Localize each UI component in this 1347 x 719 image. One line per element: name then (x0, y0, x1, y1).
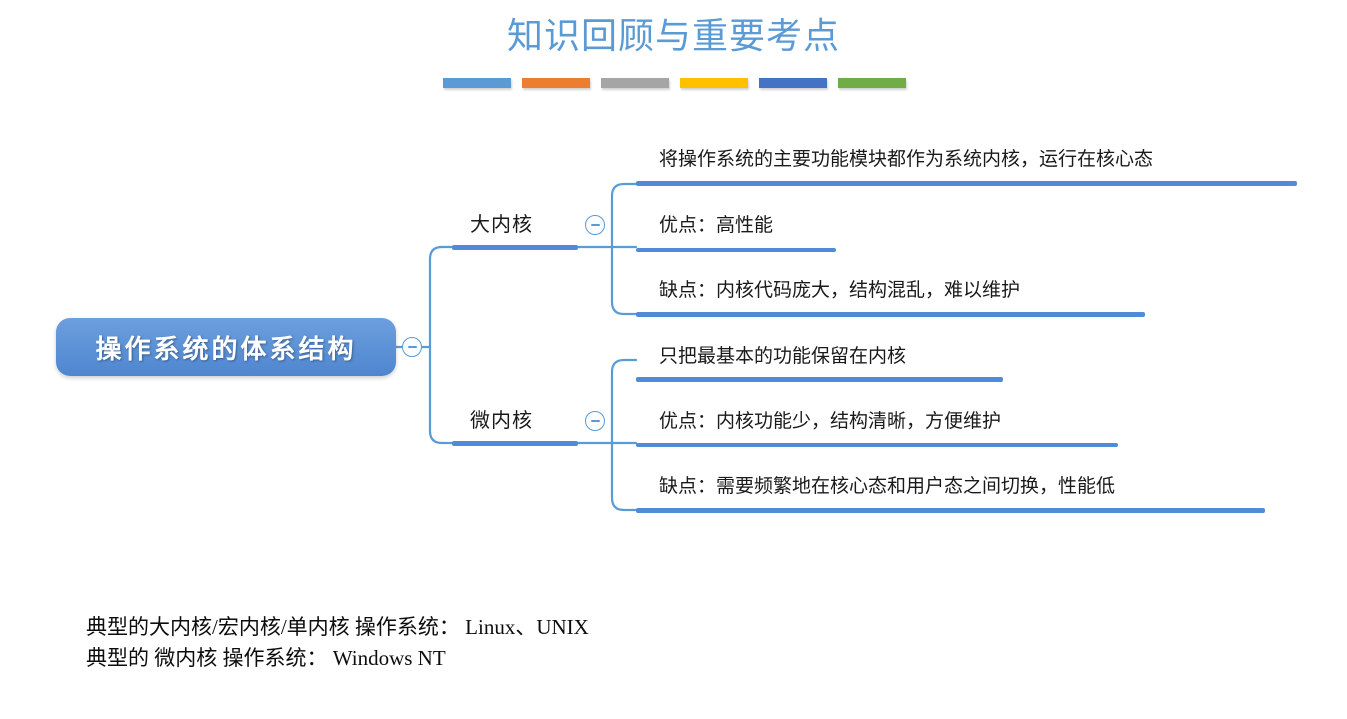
mindmap-root-label: 操作系统的体系结构 (95, 329, 356, 366)
accent-bar-strip (443, 78, 906, 88)
collapse-minus-icon (408, 346, 417, 348)
node-underline-branch-0 (452, 245, 578, 250)
node-underline-leaf-0-1 (636, 248, 836, 252)
node-underline-leaf-1-0 (636, 377, 1003, 382)
mindmap-root-node[interactable]: 操作系统的体系结构 (56, 318, 396, 376)
mindmap-leaf-label-1-1[interactable]: 优点：内核功能少，结构清晰，方便维护 (659, 409, 1001, 433)
collapse-toggle-root[interactable] (402, 337, 422, 357)
accent-bar-orange (522, 78, 590, 88)
accent-bar-blue-light (443, 78, 511, 88)
accent-bar-blue-dark (759, 78, 827, 88)
accent-bar-yellow (680, 78, 748, 88)
mindmap-branch-label-0[interactable]: 大内核 (470, 212, 533, 236)
node-underline-leaf-1-1 (636, 443, 1118, 447)
mindmap-leaf-label-1-0[interactable]: 只把最基本的功能保留在内核 (659, 344, 906, 368)
accent-bar-green (838, 78, 906, 88)
footnote-line-1: 典型的大内核/宏内核/单内核 操作系统： Linux、UNIX (86, 612, 589, 643)
collapse-toggle-branch-0[interactable] (585, 215, 605, 235)
node-underline-branch-1 (452, 441, 578, 446)
mindmap-branch-label-1[interactable]: 微内核 (470, 408, 533, 432)
node-underline-leaf-0-0 (636, 181, 1297, 186)
node-underline-leaf-0-2 (636, 312, 1145, 317)
slide-canvas: 知识回顾与重要考点 (0, 0, 1347, 719)
mindmap-leaf-label-0-1[interactable]: 优点：高性能 (659, 213, 773, 237)
mindmap-leaf-label-0-2[interactable]: 缺点：内核代码庞大，结构混乱，难以维护 (659, 278, 1020, 302)
collapse-minus-icon (591, 420, 600, 422)
mindmap-leaf-label-1-2[interactable]: 缺点：需要频繁地在核心态和用户态之间切换，性能低 (659, 474, 1115, 498)
collapse-minus-icon (591, 224, 600, 226)
collapse-toggle-branch-1[interactable] (585, 411, 605, 431)
footnote-line-2: 典型的 微内核 操作系统： Windows NT (86, 643, 589, 674)
footnotes: 典型的大内核/宏内核/单内核 操作系统： Linux、UNIX 典型的 微内核 … (86, 612, 589, 674)
node-underline-leaf-1-2 (636, 508, 1265, 513)
mindmap-leaf-label-0-0[interactable]: 将操作系统的主要功能模块都作为系统内核，运行在核心态 (659, 147, 1153, 171)
accent-bar-gray (601, 78, 669, 88)
page-title: 知识回顾与重要考点 (0, 14, 1347, 58)
